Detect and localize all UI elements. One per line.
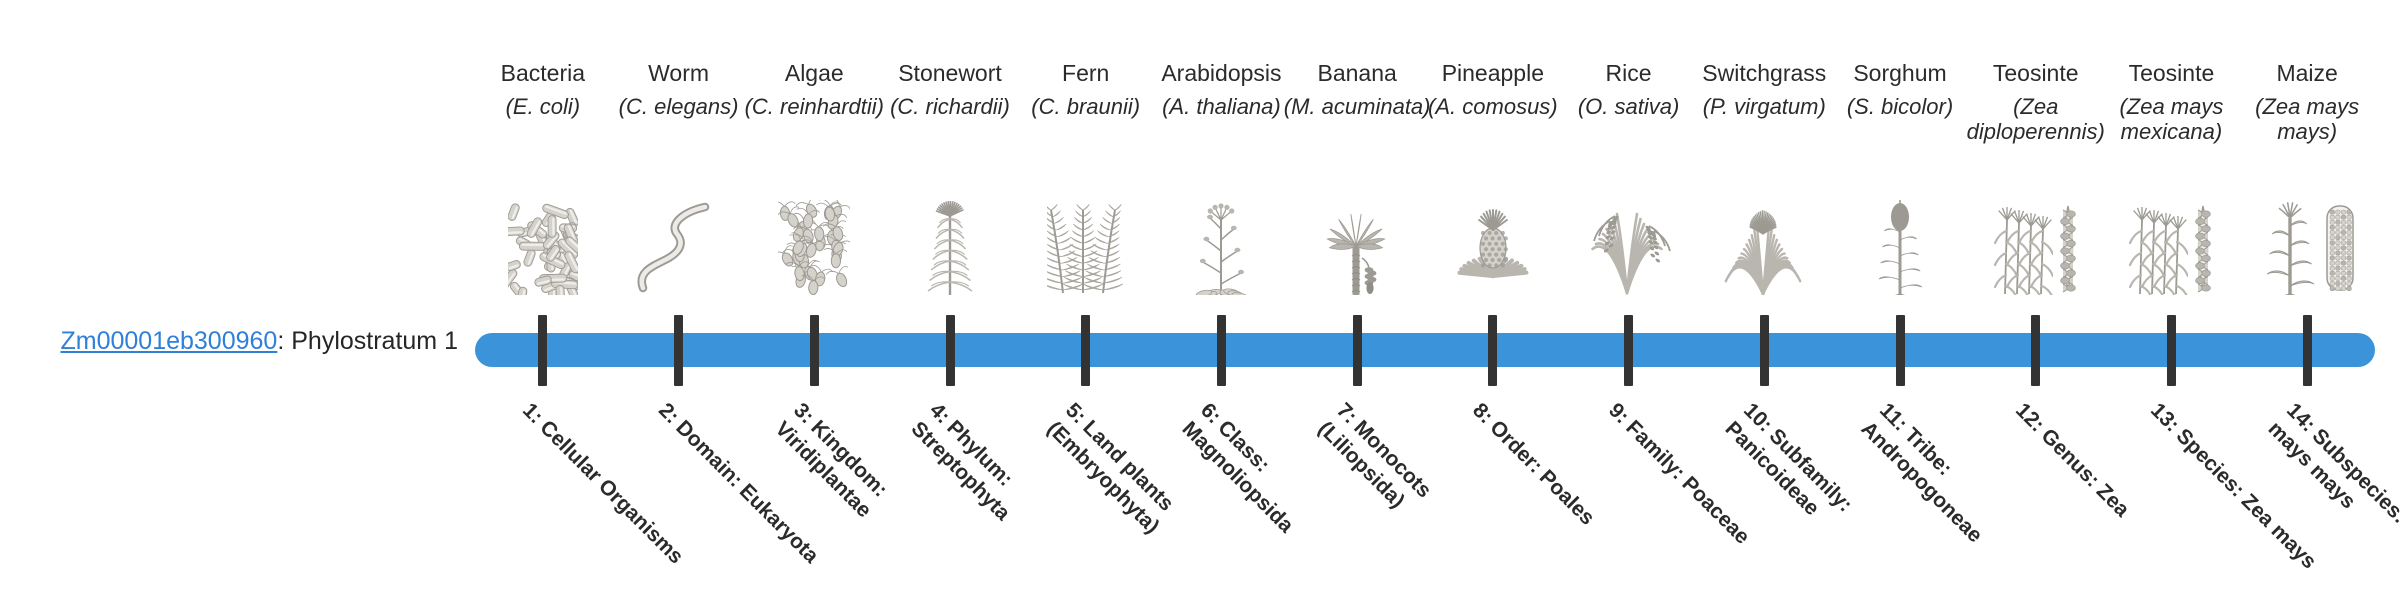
species-column: Teosinte(Zea mays mexicana)13: Species: … — [2096, 0, 2246, 580]
species-latin-name: (A. thaliana) — [1146, 95, 1296, 120]
phylostratum-tick[interactable] — [1081, 315, 1090, 386]
species-latin-name: (S. bicolor) — [1825, 95, 1975, 120]
species-common-name: Algae — [739, 60, 889, 86]
species-common-name: Pineapple — [1418, 60, 1568, 86]
phylostratum-tick[interactable] — [810, 315, 819, 386]
phylostratum-tick[interactable] — [1488, 315, 1497, 386]
phylostratum-tick[interactable] — [1896, 315, 1905, 386]
species-latin-name: (C. reinhardtii) — [739, 95, 889, 120]
phylostratum-tick[interactable] — [1353, 315, 1362, 386]
species-column: Switchgrass(P. virgatum)10: Subfamily: P… — [1689, 0, 1839, 580]
species-latin-name: (Zea mays mexicana) — [2096, 95, 2246, 144]
teosinte-plant-and-ear-icon — [2096, 165, 2246, 295]
species-column: Algae(C. reinhardtii)3: Kingdom: Viridip… — [739, 0, 889, 580]
pineapple-icon — [1418, 165, 1568, 295]
species-latin-name: (C. richardii) — [875, 95, 1025, 120]
species-latin-name: (O. sativa) — [1554, 95, 1704, 120]
species-column: Maize(Zea mays mays)14: Subspecies: Zea … — [2232, 0, 2382, 580]
species-latin-name: (M. acuminata) — [1282, 95, 1432, 120]
species-column: Banana(M. acuminata)7: Monocots (Liliops… — [1282, 0, 1432, 580]
stonewort-icon — [875, 165, 1025, 295]
algae-icon — [739, 165, 889, 295]
species-common-name: Banana — [1282, 60, 1432, 86]
species-common-name: Stonewort — [875, 60, 1025, 86]
species-column: Fern(C. braunii)5: Land plants (Embryoph… — [1011, 0, 1161, 580]
species-common-name: Arabidopsis — [1146, 60, 1296, 86]
species-latin-name: (Zea diploperennis) — [1961, 95, 2111, 144]
species-latin-name: (C. braunii) — [1011, 95, 1161, 120]
teosinte-plant-and-ear-icon — [1961, 165, 2111, 295]
species-common-name: Bacteria — [468, 60, 618, 86]
banana-icon — [1282, 165, 1432, 295]
species-common-name: Teosinte — [2096, 60, 2246, 86]
arabidopsis-icon — [1146, 165, 1296, 295]
species-column: Sorghum(S. bicolor)11: Tribe: Andropogon… — [1825, 0, 1975, 580]
phylostratum-tick[interactable] — [538, 315, 547, 386]
sorghum-icon — [1825, 165, 1975, 295]
gene-label-separator: : — [277, 327, 291, 355]
species-column: Arabidopsis(A. thaliana)6: Class: Magnol… — [1146, 0, 1296, 580]
maize-plant-and-ear-icon — [2232, 165, 2382, 295]
species-common-name: Sorghum — [1825, 60, 1975, 86]
switchgrass-icon — [1689, 165, 1839, 295]
species-column: Pineapple(A. comosus)8: Order: Poales — [1418, 0, 1568, 580]
phylostratigraphy-figure: Zm00001eb300960: Phylostratum 1 Bacteria… — [0, 0, 2400, 580]
species-latin-name: (E. coli) — [468, 95, 618, 120]
phylostratum-rank-label: 14: Subspecies: Zea mays mays — [2263, 398, 2400, 597]
phylostratum-tick[interactable] — [2031, 315, 2040, 386]
species-column: Stonewort(C. richardii)4: Phylum: Strept… — [875, 0, 1025, 580]
fern-icon — [1011, 165, 1161, 295]
gene-id-link[interactable]: Zm00001eb300960 — [60, 327, 277, 355]
gene-phylostratum-label: Zm00001eb300960: Phylostratum 1 — [38, 328, 458, 356]
species-latin-name: (P. virgatum) — [1689, 95, 1839, 120]
species-common-name: Switchgrass — [1689, 60, 1839, 86]
phylostratum-tick[interactable] — [2167, 315, 2176, 386]
phylostratum-tick[interactable] — [1217, 315, 1226, 386]
rice-icon — [1554, 165, 1704, 295]
species-latin-name: (A. comosus) — [1418, 95, 1568, 120]
species-latin-name: (C. elegans) — [604, 95, 754, 120]
species-column: Rice(O. sativa)9: Family: Poaceae — [1554, 0, 1704, 580]
phylostratum-value: Phylostratum 1 — [291, 327, 458, 355]
species-common-name: Fern — [1011, 60, 1161, 86]
species-column: Worm(C. elegans)2: Domain: Eukaryota — [604, 0, 754, 580]
species-latin-name: (Zea mays mays) — [2232, 95, 2382, 144]
species-common-name: Worm — [604, 60, 754, 86]
phylostratum-tick[interactable] — [674, 315, 683, 386]
species-column: Teosinte(Zea diploperennis)12: Genus: Ze… — [1961, 0, 2111, 580]
species-common-name: Teosinte — [1961, 60, 2111, 86]
phylostratum-tick[interactable] — [946, 315, 955, 386]
bacteria-icon — [468, 165, 618, 295]
phylostratum-track: Bacteria(E. coli)1: Cellular OrganismsWo… — [475, 0, 2375, 580]
worm-icon — [604, 165, 754, 295]
species-common-name: Maize — [2232, 60, 2382, 86]
species-common-name: Rice — [1554, 60, 1704, 86]
phylostratum-tick[interactable] — [2303, 315, 2312, 386]
species-column: Bacteria(E. coli)1: Cellular Organisms — [468, 0, 618, 580]
phylostratum-tick[interactable] — [1624, 315, 1633, 386]
phylostratum-tick[interactable] — [1760, 315, 1769, 386]
